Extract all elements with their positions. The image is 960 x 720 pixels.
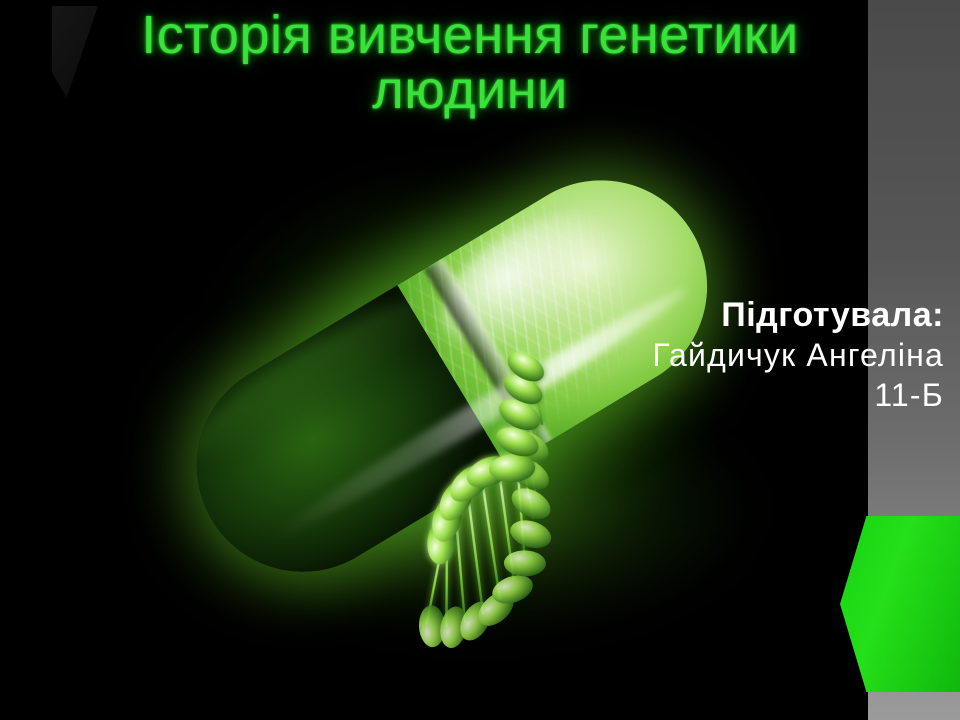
capsule-dark-half [157,265,540,611]
green-chevron-shape [840,516,960,692]
author-class: 11-Б [484,376,944,414]
capsule-bottom-glow [180,420,800,720]
slide-title: Історія вивчення генетики людини [60,8,880,118]
author-name: Гайдичук Ангеліна [484,336,944,374]
author-credit-block: Підготувала: Гайдичук Ангеліна 11-Б [484,296,944,415]
author-lead-label: Підготувала: [484,296,944,334]
presentation-slide: Історія вивчення генетики людини Підготу… [0,0,960,720]
